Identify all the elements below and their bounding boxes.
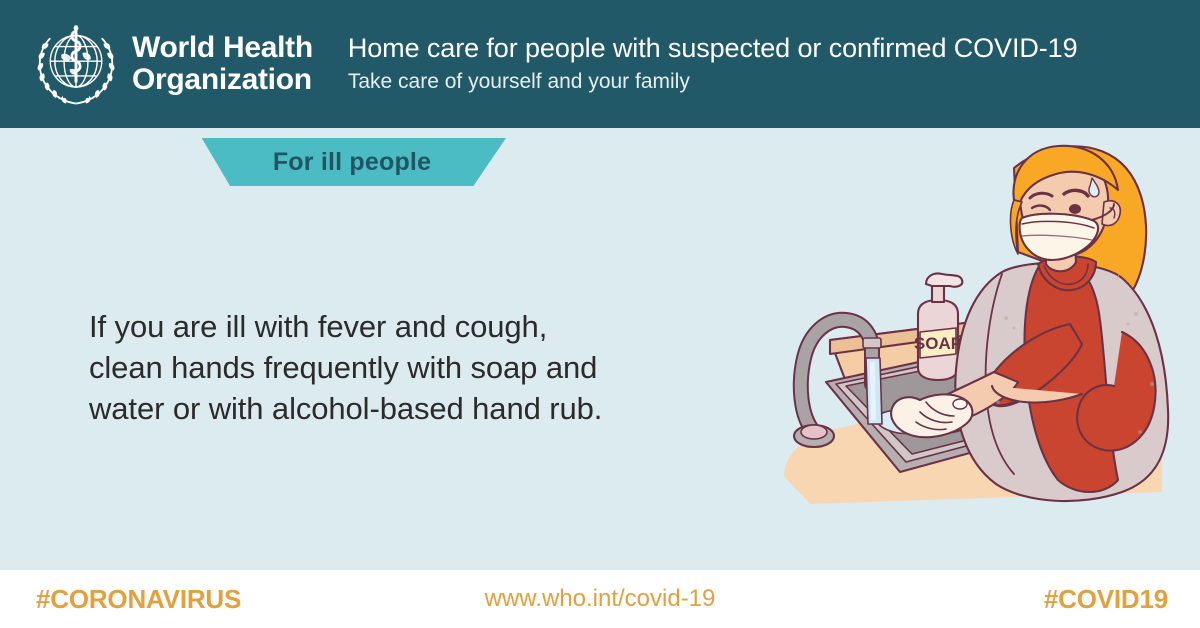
soap-pump xyxy=(926,273,962,286)
ribbon-label: For ill people xyxy=(273,148,431,177)
body-area: For ill people If you are ill with fever… xyxy=(0,128,1200,570)
footer-bar: #CORONAVIRUS www.who.int/covid-19 #COVID… xyxy=(0,570,1200,628)
section-ribbon: For ill people xyxy=(198,138,506,186)
header-title: Home care for people with suspected or c… xyxy=(348,33,1078,65)
body-message-line-2: clean hands frequently with soap and xyxy=(89,347,709,388)
header-text-block: Home care for people with suspected or c… xyxy=(348,33,1078,95)
who-url[interactable]: www.who.int/covid-19 xyxy=(0,585,1200,613)
water-highlight xyxy=(870,362,876,420)
eye-right xyxy=(1069,204,1081,214)
who-wordmark: World Health Organization xyxy=(132,32,313,96)
faucet-collar xyxy=(863,338,881,348)
illustration-svg: SOAP xyxy=(770,132,1182,532)
who-covid-infographic: World Health Organization Home care for … xyxy=(0,0,1200,628)
who-emblem-icon xyxy=(30,18,122,110)
who-wordmark-line1: World Health xyxy=(132,32,313,64)
header-subtitle: Take care of yourself and your family xyxy=(348,68,1078,95)
illustration-woman-washing-hands: SOAP xyxy=(770,132,1182,532)
body-message-line-1: If you are ill with fever and cough, xyxy=(89,306,709,347)
who-logo: World Health Organization xyxy=(30,18,313,110)
header-bar: World Health Organization Home care for … xyxy=(0,0,1200,128)
thumb xyxy=(953,399,967,409)
who-wordmark-line2: Organization xyxy=(132,64,313,96)
faucet-valve-cap xyxy=(801,425,827,439)
body-message-line-3: water or with alcohol-based hand rub. xyxy=(89,388,709,429)
body-message: If you are ill with fever and cough, cle… xyxy=(89,306,709,429)
soap-label-text: SOAP xyxy=(914,334,962,353)
hashtag-covid19[interactable]: #COVID19 xyxy=(1044,584,1168,615)
